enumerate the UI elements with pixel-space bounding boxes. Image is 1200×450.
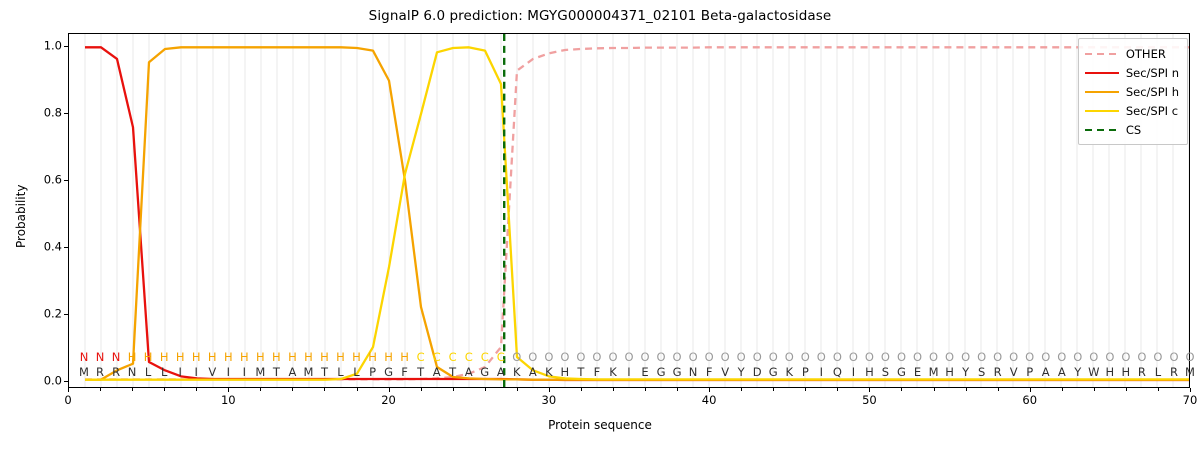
legend-item-label: Sec/SPI n (1126, 66, 1179, 80)
region-label-cell: O (1134, 350, 1150, 364)
region-label-cell: O (749, 350, 765, 364)
residue-cell: V (717, 365, 733, 379)
x-tick-mark (709, 388, 710, 392)
residue-cell: H (861, 365, 877, 379)
legend-item-label: OTHER (1126, 47, 1166, 61)
probability-curves (69, 34, 1189, 387)
residue-cell: W (1086, 365, 1102, 379)
region-label-cell: O (942, 350, 958, 364)
residue-cell: V (1006, 365, 1022, 379)
x-tick-mark (1190, 388, 1191, 392)
residue-cell: Y (958, 365, 974, 379)
region-label-cell: O (829, 350, 845, 364)
x-tick-mark (68, 388, 69, 392)
region-label-cell: C (461, 350, 477, 364)
x-tick-mark (260, 388, 261, 391)
residue-cell: A (284, 365, 300, 379)
x-tick-mark (1062, 388, 1063, 391)
residue-cell: G (381, 365, 397, 379)
legend: OTHERSec/SPI nSec/SPI hSec/SPI cCS (1078, 38, 1188, 145)
region-label-cell: H (268, 350, 284, 364)
residue-cell: G (765, 365, 781, 379)
residue-cell: G (893, 365, 909, 379)
residue-cell: I (236, 365, 252, 379)
x-tick-mark (934, 388, 935, 391)
residue-sequence-row: MRRNLLIIVIIMTAMTLLPGFTATAGAKAKHTFKIEGGNF… (68, 365, 1190, 379)
residue-cell: S (877, 365, 893, 379)
residue-cell: M (76, 365, 92, 379)
residue-cell: T (413, 365, 429, 379)
residue-cell: K (605, 365, 621, 379)
residue-cell: T (445, 365, 461, 379)
region-label-cell: H (172, 350, 188, 364)
x-tick-label: 20 (381, 393, 396, 407)
region-label-cell: O (1166, 350, 1182, 364)
residue-cell: L (349, 365, 365, 379)
x-tick-mark (901, 388, 902, 391)
region-label-cell: O (926, 350, 942, 364)
region-label-cell: H (140, 350, 156, 364)
region-label-cell: O (1070, 350, 1086, 364)
region-label-cell: C (413, 350, 429, 364)
region-label-cell: O (605, 350, 621, 364)
region-label-cell: O (781, 350, 797, 364)
region-label-cell: H (156, 350, 172, 364)
residue-cell: L (156, 365, 172, 379)
residue-cell: F (589, 365, 605, 379)
region-label-cell: O (974, 350, 990, 364)
region-label-cell: O (637, 350, 653, 364)
residue-cell: A (525, 365, 541, 379)
region-label-cell: C (493, 350, 509, 364)
residue-cell: I (172, 365, 188, 379)
residue-cell: A (1054, 365, 1070, 379)
residue-cell: A (1038, 365, 1054, 379)
region-label-cell: O (990, 350, 1006, 364)
residue-cell: S (974, 365, 990, 379)
region-label-cell: H (252, 350, 268, 364)
x-tick-mark (1126, 388, 1127, 391)
x-tick-mark (741, 388, 742, 391)
y-tick-label: 0.4 (2, 242, 62, 254)
x-tick-mark (677, 388, 678, 391)
region-label-cell: O (877, 350, 893, 364)
region-label-cell: O (653, 350, 669, 364)
x-tick-mark (421, 388, 422, 391)
residue-cell: G (477, 365, 493, 379)
residue-cell: K (781, 365, 797, 379)
residue-cell: P (797, 365, 813, 379)
region-label-cell: O (1150, 350, 1166, 364)
x-tick-mark (453, 388, 454, 391)
legend-swatch-icon (1085, 86, 1119, 98)
residue-cell: N (685, 365, 701, 379)
region-label-cell: H (349, 350, 365, 364)
x-tick-label: 50 (862, 393, 877, 407)
legend-item-label: Sec/SPI c (1126, 104, 1178, 118)
x-tick-mark (292, 388, 293, 391)
residue-cell: F (701, 365, 717, 379)
region-label-cell: H (204, 350, 220, 364)
region-label-cell: H (397, 350, 413, 364)
residue-cell: M (1182, 365, 1198, 379)
residue-cell: H (1102, 365, 1118, 379)
region-label-cell: O (1102, 350, 1118, 364)
x-tick-mark (998, 388, 999, 391)
residue-cell: T (316, 365, 332, 379)
legend-item-label: Sec/SPI h (1126, 85, 1179, 99)
legend-swatch-icon (1085, 48, 1119, 60)
legend-swatch-icon (1085, 67, 1119, 79)
region-label-cell: O (1006, 350, 1022, 364)
residue-cell: Y (733, 365, 749, 379)
x-tick-label: 0 (64, 393, 71, 407)
region-label-cell: H (365, 350, 381, 364)
region-label-cell: H (381, 350, 397, 364)
x-tick-label: 60 (1022, 393, 1037, 407)
region-label-cell: H (332, 350, 348, 364)
residue-cell: D (749, 365, 765, 379)
region-label-cell: O (797, 350, 813, 364)
x-tick-mark (1094, 388, 1095, 391)
region-label-cell: O (589, 350, 605, 364)
x-tick-mark (581, 388, 582, 391)
region-label-cell: O (1054, 350, 1070, 364)
legend-item: Sec/SPI c (1085, 101, 1179, 120)
region-label-cell: N (92, 350, 108, 364)
residue-cell: L (140, 365, 156, 379)
x-tick-mark (517, 388, 518, 391)
y-tick-label: 1.0 (2, 41, 62, 53)
plot-area (68, 33, 1190, 388)
region-label-cell: O (1086, 350, 1102, 364)
region-label-cell: N (76, 350, 92, 364)
residue-cell: H (1118, 365, 1134, 379)
region-label-cell: H (284, 350, 300, 364)
region-label-cell: O (1038, 350, 1054, 364)
x-tick-mark (966, 388, 967, 391)
region-label-cell: O (893, 350, 909, 364)
x-tick-mark (324, 388, 325, 391)
x-tick-label: 70 (1183, 393, 1198, 407)
region-label-cell: H (188, 350, 204, 364)
x-tick-mark (869, 388, 870, 392)
chart-title: SignalP 6.0 prediction: MGYG000004371_02… (0, 8, 1200, 24)
residue-cell: T (268, 365, 284, 379)
y-tick-label: 0.2 (2, 309, 62, 321)
residue-cell: I (813, 365, 829, 379)
region-label-cell: O (621, 350, 637, 364)
x-tick-mark (1030, 388, 1031, 392)
x-tick-label: 10 (221, 393, 236, 407)
x-tick-mark (100, 388, 101, 391)
region-label-cell: H (124, 350, 140, 364)
residue-cell: A (429, 365, 445, 379)
x-tick-mark (389, 388, 390, 392)
region-label-cell: O (573, 350, 589, 364)
residue-cell: E (637, 365, 653, 379)
residue-cell: R (1134, 365, 1150, 379)
x-tick-mark (645, 388, 646, 391)
x-tick-mark (549, 388, 550, 392)
x-axis-label: Protein sequence (0, 418, 1200, 432)
x-tick-mark (196, 388, 197, 391)
region-label-cell: N (108, 350, 124, 364)
signalp-prediction-figure: SignalP 6.0 prediction: MGYG000004371_02… (0, 0, 1200, 450)
x-tick-mark (164, 388, 165, 391)
region-label-cell: O (861, 350, 877, 364)
y-tick-label: 0.8 (2, 108, 62, 120)
region-label-cell: O (845, 350, 861, 364)
residue-cell: K (541, 365, 557, 379)
x-tick-mark (357, 388, 358, 391)
residue-cell: E (910, 365, 926, 379)
residue-cell: A (493, 365, 509, 379)
x-tick-mark (485, 388, 486, 391)
residue-cell: G (669, 365, 685, 379)
x-tick-label: 30 (542, 393, 557, 407)
legend-item: Sec/SPI h (1085, 82, 1179, 101)
x-tick-mark (613, 388, 614, 391)
region-label-cell: O (685, 350, 701, 364)
y-axis-label: Probability (14, 185, 28, 248)
residue-cell: V (204, 365, 220, 379)
region-label-cell: H (220, 350, 236, 364)
residue-cell: R (1166, 365, 1182, 379)
x-tick-mark (132, 388, 133, 391)
region-label-cell: C (429, 350, 445, 364)
region-label-cell: O (765, 350, 781, 364)
residue-cell: F (397, 365, 413, 379)
residue-cell: Q (829, 365, 845, 379)
x-tick-label: 40 (702, 393, 717, 407)
residue-cell: R (990, 365, 1006, 379)
region-label-cell: O (1022, 350, 1038, 364)
residue-cell: M (300, 365, 316, 379)
residue-cell: H (942, 365, 958, 379)
y-tick-label: 0.6 (2, 175, 62, 187)
x-tick-mark (228, 388, 229, 392)
region-label-cell: C (477, 350, 493, 364)
legend-item: OTHER (1085, 44, 1179, 63)
x-tick-mark (773, 388, 774, 391)
x-tick-mark (805, 388, 806, 391)
legend-item: Sec/SPI n (1085, 63, 1179, 82)
legend-item-label: CS (1126, 123, 1141, 137)
region-label-cell: O (541, 350, 557, 364)
region-label-cell: O (717, 350, 733, 364)
legend-swatch-icon (1085, 105, 1119, 117)
region-label-cell: H (236, 350, 252, 364)
region-label-cell: H (316, 350, 332, 364)
region-label-cell: O (557, 350, 573, 364)
residue-cell: Y (1070, 365, 1086, 379)
residue-cell: G (653, 365, 669, 379)
legend-swatch-icon (1085, 124, 1119, 136)
residue-cell: I (621, 365, 637, 379)
residue-cell: L (1150, 365, 1166, 379)
residue-cell: L (332, 365, 348, 379)
region-label-cell: O (509, 350, 525, 364)
region-label-cell: O (813, 350, 829, 364)
region-label-cell: O (1182, 350, 1198, 364)
residue-cell: I (188, 365, 204, 379)
region-label-cell: O (525, 350, 541, 364)
region-label-cell: O (1118, 350, 1134, 364)
residue-cell: P (1022, 365, 1038, 379)
x-tick-mark (1158, 388, 1159, 391)
residue-cell: A (461, 365, 477, 379)
residue-cell: P (365, 365, 381, 379)
region-label-cell: H (300, 350, 316, 364)
residue-cell: N (124, 365, 140, 379)
residue-cell: R (108, 365, 124, 379)
y-tick-label: 0.0 (2, 376, 62, 388)
residue-cell: M (252, 365, 268, 379)
residue-cell: R (92, 365, 108, 379)
x-tick-mark (837, 388, 838, 391)
region-label-cell: C (445, 350, 461, 364)
region-annotation-row: NNNHHHHHHHHHHHHHHHHHHCCCCCCOOOOOOOOOOOOO… (68, 350, 1190, 364)
residue-cell: I (845, 365, 861, 379)
residue-cell: K (509, 365, 525, 379)
region-label-cell: O (669, 350, 685, 364)
legend-item: CS (1085, 120, 1179, 139)
region-label-cell: O (701, 350, 717, 364)
residue-cell: I (220, 365, 236, 379)
residue-cell: H (557, 365, 573, 379)
region-label-cell: O (910, 350, 926, 364)
region-label-cell: O (733, 350, 749, 364)
residue-cell: M (926, 365, 942, 379)
residue-cell: T (573, 365, 589, 379)
region-label-cell: O (958, 350, 974, 364)
